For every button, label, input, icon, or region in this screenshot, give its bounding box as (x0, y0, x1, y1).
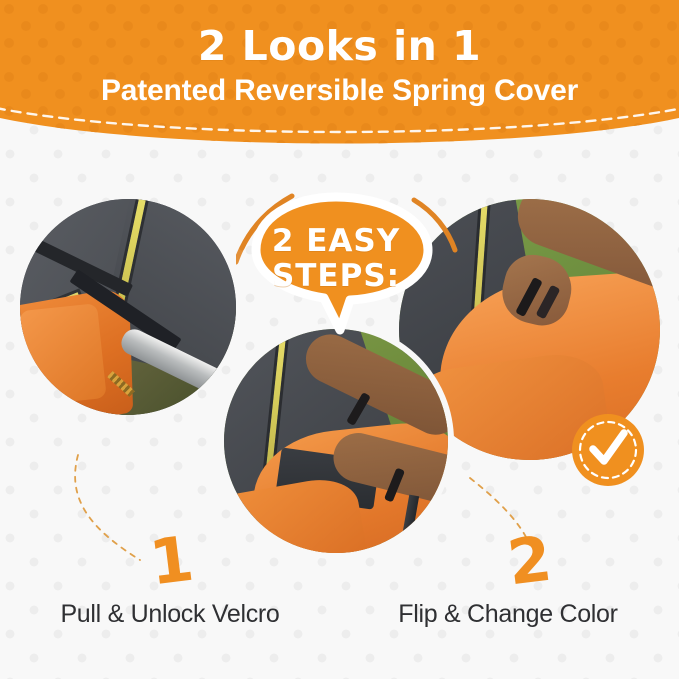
speech-bubble-text: 2 EASY STEPS: (236, 224, 436, 294)
bubble-line-1: 2 EASY (236, 224, 436, 259)
speech-bubble: 2 EASY STEPS: (236, 188, 462, 348)
bubble-line-2: STEPS: (236, 259, 436, 294)
step-number-2: 2 (504, 528, 554, 595)
step-caption-2: Flip & Change Color (338, 600, 678, 628)
photo-pull-velcro (20, 199, 236, 415)
check-icon (571, 413, 645, 487)
infographic-root: 2 Looks in 1 Patented Reversible Spring … (0, 0, 679, 679)
photo-unlock-flap (224, 329, 448, 553)
step-caption-1: Pull & Unlock Velcro (0, 600, 340, 628)
step-number-1: 1 (146, 528, 196, 595)
